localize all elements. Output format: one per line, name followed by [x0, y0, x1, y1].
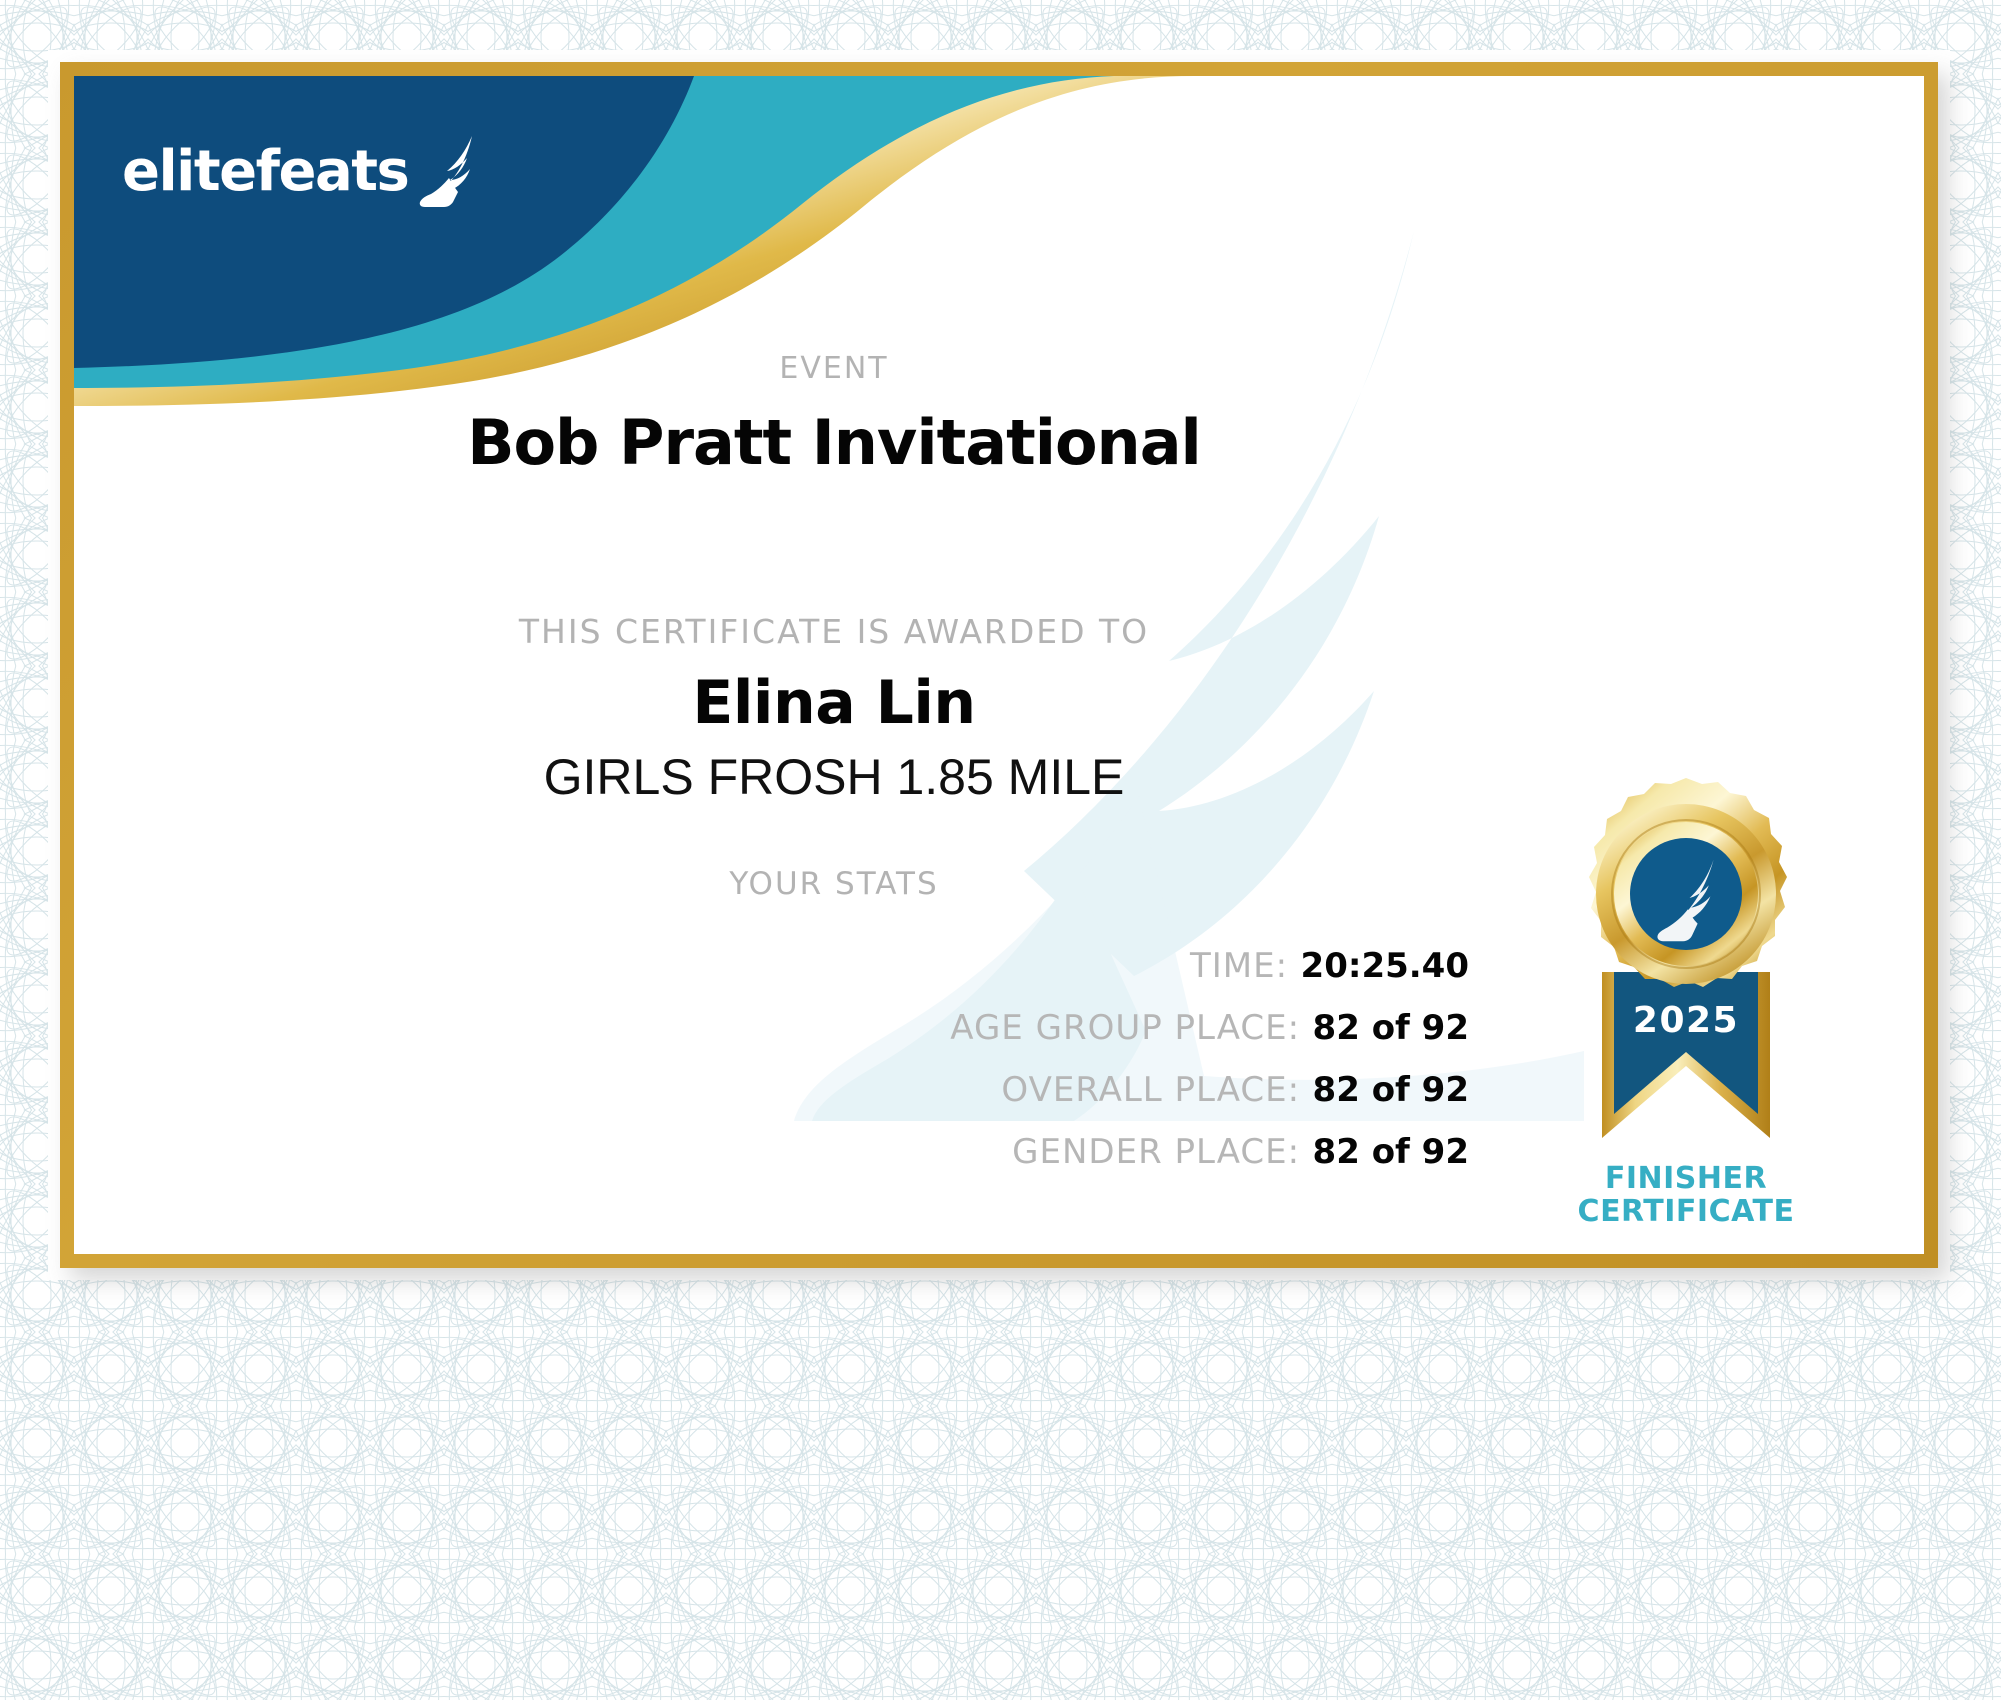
stats-list: TIME: 20:25.40 AGE GROUP PLACE: 82 of 92… [74, 946, 1469, 1194]
winged-foot-icon [414, 134, 484, 210]
stat-row: AGE GROUP PLACE: 82 of 92 [74, 1008, 1469, 1048]
stat-row: GENDER PLACE: 82 of 92 [74, 1132, 1469, 1172]
stat-key: AGE GROUP PLACE: [950, 1008, 1300, 1048]
event-name: Bob Pratt Invitational [74, 406, 1594, 479]
gold-medal-rosette-icon: 2025 [1536, 776, 1836, 1161]
stat-row: OVERALL PLACE: 82 of 92 [74, 1070, 1469, 1110]
event-label: EVENT [74, 351, 1594, 386]
stats-label: YOUR STATS [74, 866, 1594, 902]
division-name: GIRLS FROSH 1.85 MILE [74, 748, 1594, 806]
certificate-page: elitefeats EVENT [0, 0, 2001, 1700]
certificate-gold-frame: elitefeats EVENT [60, 62, 1938, 1268]
stat-value: 82 of 92 [1313, 1008, 1469, 1048]
elitefeats-logo: elitefeats [122, 134, 484, 210]
stat-key: OVERALL PLACE: [1001, 1070, 1300, 1110]
badge-year: 2025 [1633, 1000, 1739, 1041]
stat-value: 82 of 92 [1313, 1132, 1469, 1172]
brand-wordmark: elitefeats [122, 144, 408, 200]
stat-value: 20:25.40 [1301, 946, 1469, 986]
badge-caption-line2: CERTIFICATE [1536, 1196, 1836, 1228]
certificate-body: elitefeats EVENT [74, 76, 1924, 1254]
stat-value: 82 of 92 [1313, 1070, 1469, 1110]
badge-caption: FINISHER CERTIFICATE [1536, 1163, 1836, 1228]
stat-row: TIME: 20:25.40 [74, 946, 1469, 986]
stat-key: TIME: [1190, 946, 1288, 986]
awarded-to-label: THIS CERTIFICATE IS AWARDED TO [74, 612, 1594, 651]
badge-caption-line1: FINISHER [1536, 1163, 1836, 1195]
recipient-name: Elina Lin [74, 668, 1594, 738]
stat-key: GENDER PLACE: [1012, 1132, 1300, 1172]
finisher-medal-badge: 2025 [1536, 776, 1836, 1228]
